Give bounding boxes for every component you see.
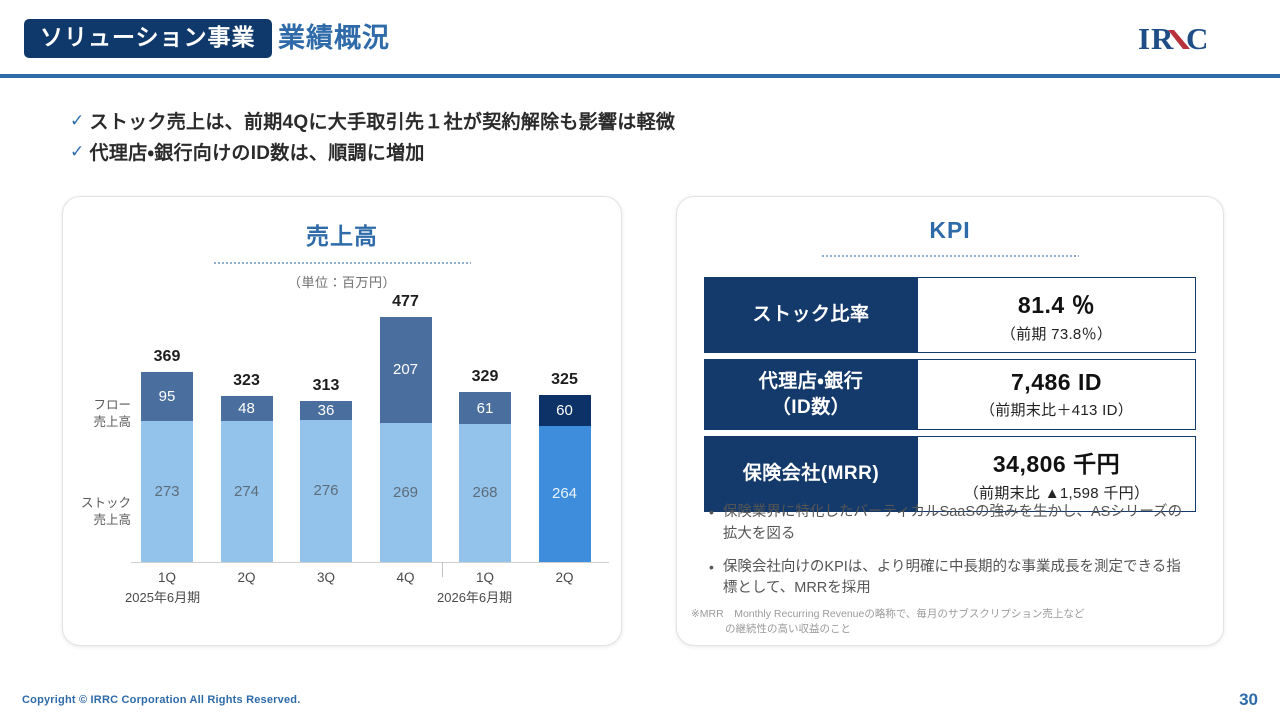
table-row: ストック比率 81.4 ％ （前期 73.8％） (704, 277, 1196, 353)
kpi-key-cell: 代理店・銀行 （ID数） (704, 359, 918, 430)
kpi-note-text: 保険会社向けのKPIは、より明確に中長期的な事業成長を測定できる指標として、MR… (723, 557, 1189, 601)
kpi-value-cell: 81.4 ％ （前期 73.8％） (918, 277, 1196, 353)
kpi-main-value: 7,486 ID (1011, 369, 1102, 396)
kpi-key-line: （ID数） (759, 395, 863, 421)
title-divider (213, 262, 471, 264)
list-item: • 保険会社向けのKPIは、より明確に中長期的な事業成長を測定できる指標として、… (709, 557, 1189, 601)
irc-logo: I R C (1138, 22, 1244, 56)
bar-total-label: 313 (300, 377, 352, 395)
check-icon: ✓ (70, 139, 85, 165)
kpi-value-cell: 34,806 千円 （前期末比 ▲1,598 千円） (918, 436, 1196, 512)
kpi-sub-value: （前期末比＋413 ID） (980, 399, 1133, 420)
axis-label-stock: ストック 売上高 (69, 495, 131, 529)
chart-baseline (131, 562, 609, 563)
bar-total-label: 325 (539, 371, 591, 389)
kpi-key-line: 代理店・銀行 (759, 369, 863, 395)
kpi-main-value: 81.4 ％ (1018, 286, 1095, 320)
bar-segment-flow: 48 (221, 396, 273, 421)
bar-column-2: 48274 (221, 396, 273, 562)
kpi-table: ストック比率 81.4 ％ （前期 73.8％） 代理店・銀行 （ID数） 7,… (704, 277, 1196, 518)
kpi-main-value: 34,806 千円 (993, 445, 1120, 479)
slide-header: ソリューション事業 業績概況 I R C (0, 0, 1280, 78)
x-axis-tick-label: 4Q (380, 570, 432, 585)
table-row: 保険会社(MRR) 34,806 千円 （前期末比 ▲1,598 千円） (704, 436, 1196, 512)
period-caption: 2025年6月期 (125, 587, 200, 606)
kpi-key-cell: ストック比率 (704, 277, 918, 353)
kpi-note-text: 保険業界に特化したバーティカルSaaSの強みを生かし、ASシリーズの拡大を図る (723, 502, 1189, 546)
x-axis-tick-label: 2Q (539, 570, 591, 585)
kpi-sub-value: （前期 73.8％） (1001, 323, 1112, 344)
svg-text:R: R (1151, 22, 1174, 56)
sales-card-title: 売上高 (63, 217, 621, 251)
bar-segment-stock: 268 (459, 424, 511, 562)
page-title: 業績概況 (278, 22, 390, 54)
bar-segment-flow: 95 (141, 372, 193, 421)
kpi-value-cell: 7,486 ID （前期末比＋413 ID） (918, 359, 1196, 430)
kpi-sub-value: （前期末比 ▲1,598 千円） (964, 482, 1150, 503)
bullet-text: ストック売上は、前期4Qに大手取引先１社が契約解除も影響は軽微 (90, 108, 676, 137)
bullet-dot-icon: • (709, 557, 714, 578)
bar-segment-stock: 276 (300, 420, 352, 562)
x-axis-tick-label: 2Q (221, 570, 273, 585)
bar-column-4: 207269 (380, 317, 432, 562)
sales-bar-chart: フロー 売上高 ストック 売上高 2025年6月期 2026年6月期 95273… (63, 275, 623, 635)
bar-segment-stock: 264 (539, 426, 591, 562)
x-axis-tick-label: 3Q (300, 570, 352, 585)
kpi-key-cell: 保険会社(MRR) (704, 436, 918, 512)
list-item: ✓ 代理店・銀行向けのID数は、順調に増加 (70, 139, 870, 168)
check-icon: ✓ (70, 108, 85, 134)
footer-page-number: 30 (1239, 690, 1258, 710)
title-divider (821, 255, 1079, 257)
bar-column-5: 61268 (459, 392, 511, 562)
svg-text:C: C (1186, 22, 1208, 56)
period-caption: 2026年6月期 (437, 587, 512, 606)
bar-total-label: 329 (459, 368, 511, 386)
x-axis-tick-label: 1Q (141, 570, 193, 585)
bar-column-6: 60264 (539, 395, 591, 562)
bar-segment-stock: 274 (221, 421, 273, 562)
footnote-line: ※MRR Monthly Recurring Revenueの略称で、毎月のサブ… (691, 608, 1084, 620)
bar-total-label: 477 (380, 293, 432, 311)
axis-label-flow: フロー 売上高 (69, 397, 131, 431)
sales-chart-card: 売上高 （単位：百万円） フロー 売上高 ストック 売上高 2025年6月期 2… (62, 196, 622, 646)
bar-column-1: 95273 (141, 372, 193, 562)
chart-plot-area: 2025年6月期 2026年6月期 952733691Q482743232Q36… (131, 275, 609, 591)
list-item: • 保険業界に特化したバーティカルSaaSの強みを生かし、ASシリーズの拡大を図… (709, 502, 1189, 546)
kpi-card-title: KPI (677, 217, 1223, 244)
summary-bullet-list: ✓ ストック売上は、前期4Qに大手取引先１社が契約解除も影響は軽微 ✓ 代理店・… (70, 108, 870, 171)
footer-copyright: Copyright © IRRC Corporation All Rights … (22, 694, 300, 706)
bullet-dot-icon: • (709, 502, 714, 523)
period-separator-tick (442, 562, 443, 577)
bar-segment-flow: 61 (459, 392, 511, 423)
header-category-badge: ソリューション事業 (24, 19, 272, 58)
bar-total-label: 369 (141, 348, 193, 366)
svg-text:I: I (1138, 22, 1150, 56)
table-row: 代理店・銀行 （ID数） 7,486 ID （前期末比＋413 ID） (704, 359, 1196, 430)
bar-column-3: 36276 (300, 401, 352, 562)
kpi-footnote: ※MRR Monthly Recurring Revenueの略称で、毎月のサブ… (691, 607, 1191, 637)
kpi-note-list: • 保険業界に特化したバーティカルSaaSの強みを生かし、ASシリーズの拡大を図… (709, 502, 1189, 611)
footnote-line: の継続性の高い収益のこと (691, 622, 1191, 637)
bar-segment-flow: 60 (539, 395, 591, 426)
bar-segment-flow: 36 (300, 401, 352, 420)
bar-segment-stock: 273 (141, 421, 193, 562)
list-item: ✓ ストック売上は、前期4Qに大手取引先１社が契約解除も影響は軽微 (70, 108, 870, 137)
header-divider (0, 74, 1280, 78)
x-axis-tick-label: 1Q (459, 570, 511, 585)
bar-segment-stock: 269 (380, 423, 432, 562)
bullet-text: 代理店・銀行向けのID数は、順調に増加 (90, 139, 425, 168)
bar-total-label: 323 (221, 372, 273, 390)
kpi-card: KPI ストック比率 81.4 ％ （前期 73.8％） 代理店・銀行 （ID数… (676, 196, 1224, 646)
bar-segment-flow: 207 (380, 317, 432, 424)
